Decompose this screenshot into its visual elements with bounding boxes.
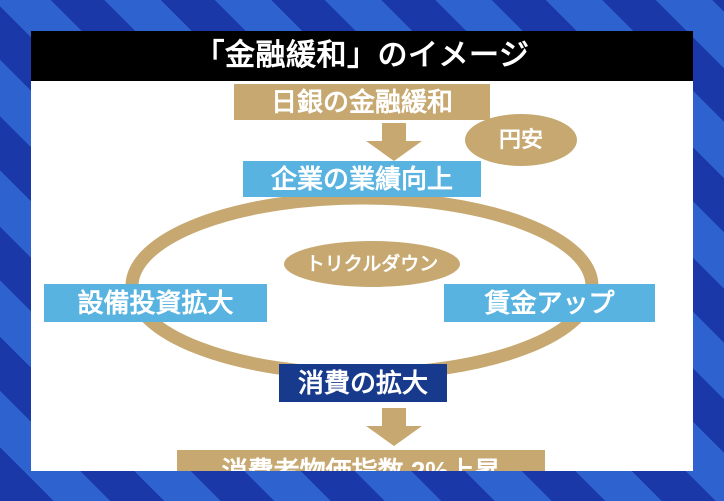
content-card: 「金融緩和」のイメージ 日銀の金融緩和 円安 企業の業績向上 トリクルダウン 設… (31, 31, 693, 471)
arrow-down-icon (362, 123, 426, 161)
node-wage-increase: 賃金アップ (444, 284, 655, 322)
node-weak-yen: 円安 (465, 114, 577, 166)
node-trickle-down: トリクルダウン (284, 241, 460, 287)
node-cpi-two-percent-rise: 消費者物価指数 2%上昇 (177, 450, 545, 471)
node-consumption-expansion: 消費の拡大 (279, 364, 447, 402)
title-bar: 「金融緩和」のイメージ (31, 31, 693, 81)
arrow-down-icon (362, 408, 426, 446)
node-boj-monetary-easing: 日銀の金融緩和 (234, 84, 490, 120)
diagram-canvas: 日銀の金融緩和 円安 企業の業績向上 トリクルダウン 設備投資拡大 賃金アップ … (31, 81, 693, 471)
node-capital-investment-expansion: 設備投資拡大 (44, 284, 267, 322)
node-corporate-earnings-up: 企業の業績向上 (243, 161, 481, 197)
screen-root: 「金融緩和」のイメージ 日銀の金融緩和 円安 企業の業績向上 トリクルダウン 設… (0, 0, 724, 501)
page-title: 「金融緩和」のイメージ (195, 41, 530, 71)
